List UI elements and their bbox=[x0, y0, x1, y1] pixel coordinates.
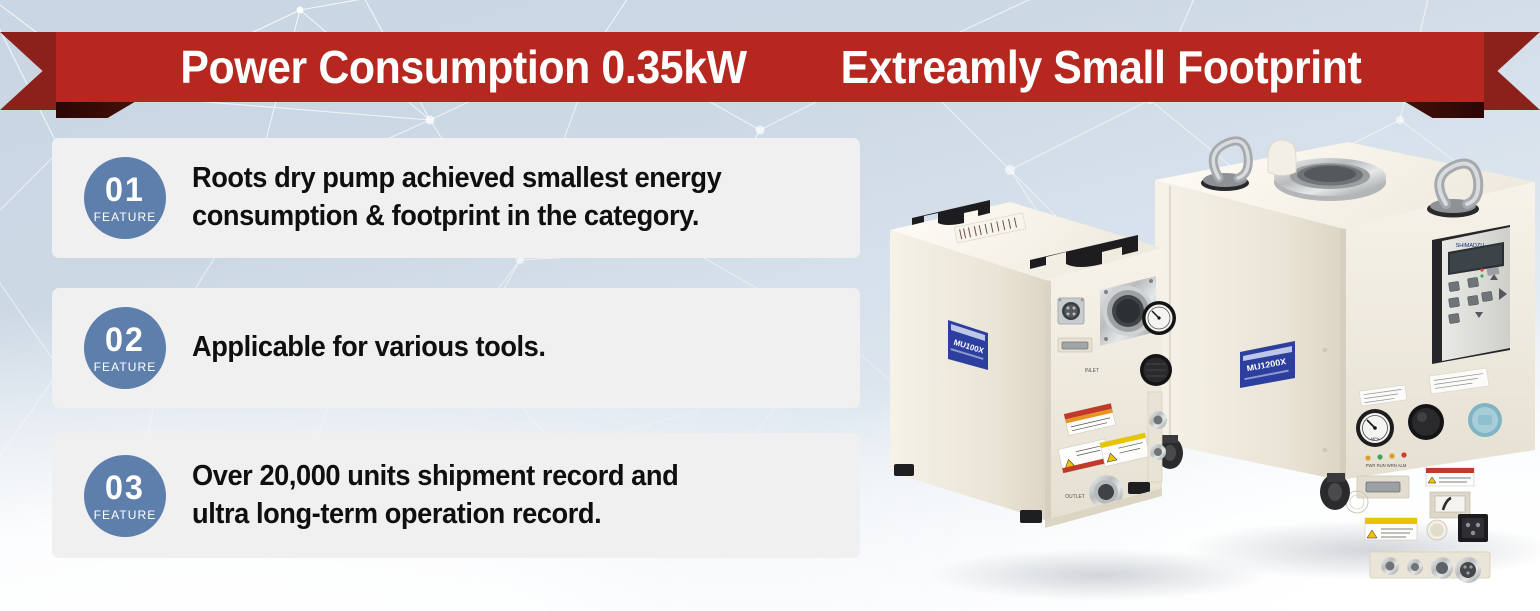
feature-card-01: 01 FEATURE Roots dry pump achieved small… bbox=[52, 138, 860, 258]
pump-illustration: MU1200X SHIMADZU bbox=[870, 120, 1540, 611]
feature-number-02: 02 bbox=[105, 323, 145, 357]
feature-label-02: FEATURE bbox=[94, 361, 157, 373]
caution-label-red bbox=[1426, 468, 1474, 486]
feature-text-01-line-1: consumption & footprint in the category. bbox=[192, 198, 721, 236]
control-panel: SHIMADZU bbox=[1432, 225, 1510, 364]
power-connector bbox=[1058, 298, 1084, 324]
feature-text-01-line-0: Roots dry pump achieved smallest energy bbox=[192, 160, 721, 198]
feature-label-01: FEATURE bbox=[94, 211, 157, 223]
feature-number-03: 03 bbox=[105, 471, 145, 505]
feature-text-03-line-0: Over 20,000 units shipment record and bbox=[192, 458, 678, 496]
pressure-gauge: MPa bbox=[1356, 409, 1394, 447]
banner-title-power: Power Consumption 0.35kW bbox=[180, 44, 746, 90]
small-pump: MU100X bbox=[890, 200, 1176, 528]
banner-title-footprint: Extreamly Small Footprint bbox=[841, 44, 1362, 90]
feature-text-03-line-1: ultra long-term operation record. bbox=[192, 496, 678, 534]
product-photo: MU1200X SHIMADZU bbox=[870, 120, 1540, 611]
small-pump-knob bbox=[1140, 354, 1172, 386]
feature-badge-01: 01 FEATURE bbox=[84, 157, 166, 239]
warning-label-yellow bbox=[1365, 518, 1417, 540]
feature-badge-02: 02 FEATURE bbox=[84, 307, 166, 389]
svg-text:INLET: INLET bbox=[1085, 368, 1099, 374]
feature-badge-03: 03 FEATURE bbox=[84, 455, 166, 537]
feature-number-01: 01 bbox=[105, 173, 145, 207]
feature-text-01: Roots dry pump achieved smallest energy … bbox=[192, 160, 721, 236]
feature-label-03: FEATURE bbox=[94, 509, 157, 521]
feature-card-03: 03 FEATURE Over 20,000 units shipment re… bbox=[52, 433, 860, 558]
svg-text:MPa: MPa bbox=[1371, 436, 1380, 441]
large-pump: MU1200X SHIMADZU bbox=[1155, 140, 1535, 583]
feature-text-02: Applicable for various tools. bbox=[192, 329, 546, 367]
svg-text:OUTLET: OUTLET bbox=[1065, 494, 1085, 500]
regulator-knob bbox=[1408, 404, 1444, 440]
svg-text:PWR RUN WRN ALM: PWR RUN WRN ALM bbox=[1366, 463, 1407, 468]
purge-valve bbox=[1468, 403, 1502, 437]
ribbon-band: Power Consumption 0.35kW Extreamly Small… bbox=[56, 32, 1484, 102]
feature-card-02: 02 FEATURE Applicable for various tools. bbox=[52, 288, 860, 408]
feature-text-03: Over 20,000 units shipment record and ul… bbox=[192, 458, 678, 534]
feature-text-02-line-0: Applicable for various tools. bbox=[192, 329, 546, 367]
small-pump-gauge bbox=[1142, 301, 1176, 335]
ribbon-banner: Power Consumption 0.35kW Extreamly Small… bbox=[0, 24, 1540, 139]
